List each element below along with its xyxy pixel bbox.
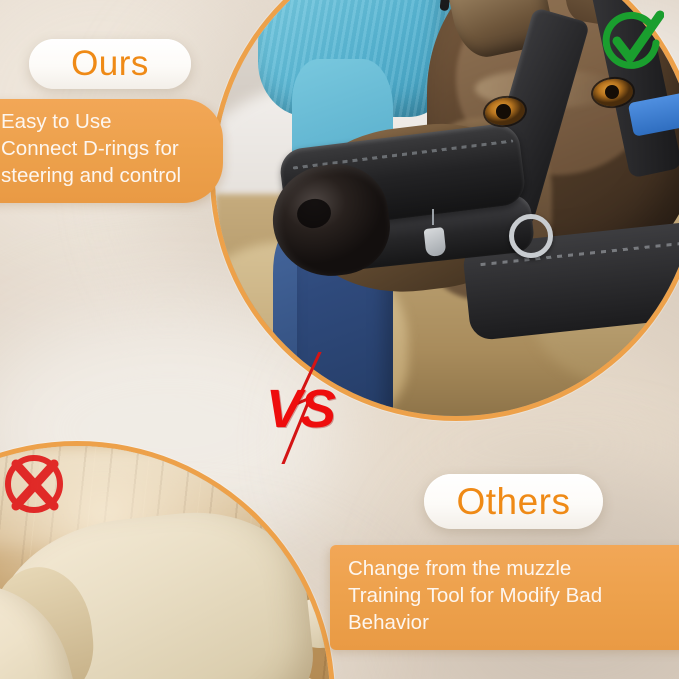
others-label-text: Others: [456, 481, 570, 523]
dog-pupil-left: [496, 104, 510, 118]
d-ring-link: [432, 209, 434, 225]
others-drawback-text: Change from the muzzle Training Tool for…: [348, 555, 679, 636]
versus-label: VS: [266, 378, 334, 440]
ours-label-text: Ours: [71, 44, 149, 84]
ours-benefit-text: Easy to Use Connect D-rings for steering…: [1, 108, 223, 189]
red-cross-circle-icon: [2, 452, 66, 516]
ours-label-pill: Ours: [29, 39, 191, 89]
others-label-pill: Others: [424, 474, 603, 529]
green-check-circle-icon: [600, 10, 664, 74]
id-tag: [423, 227, 446, 257]
others-drawback-banner: Change from the muzzle Training Tool for…: [330, 545, 679, 650]
d-ring-icon: [509, 214, 553, 258]
infographic-canvas: Ours Easy to Use Connect D-rings for ste…: [0, 0, 679, 679]
ours-benefit-banner: Easy to Use Connect D-rings for steering…: [0, 99, 223, 203]
